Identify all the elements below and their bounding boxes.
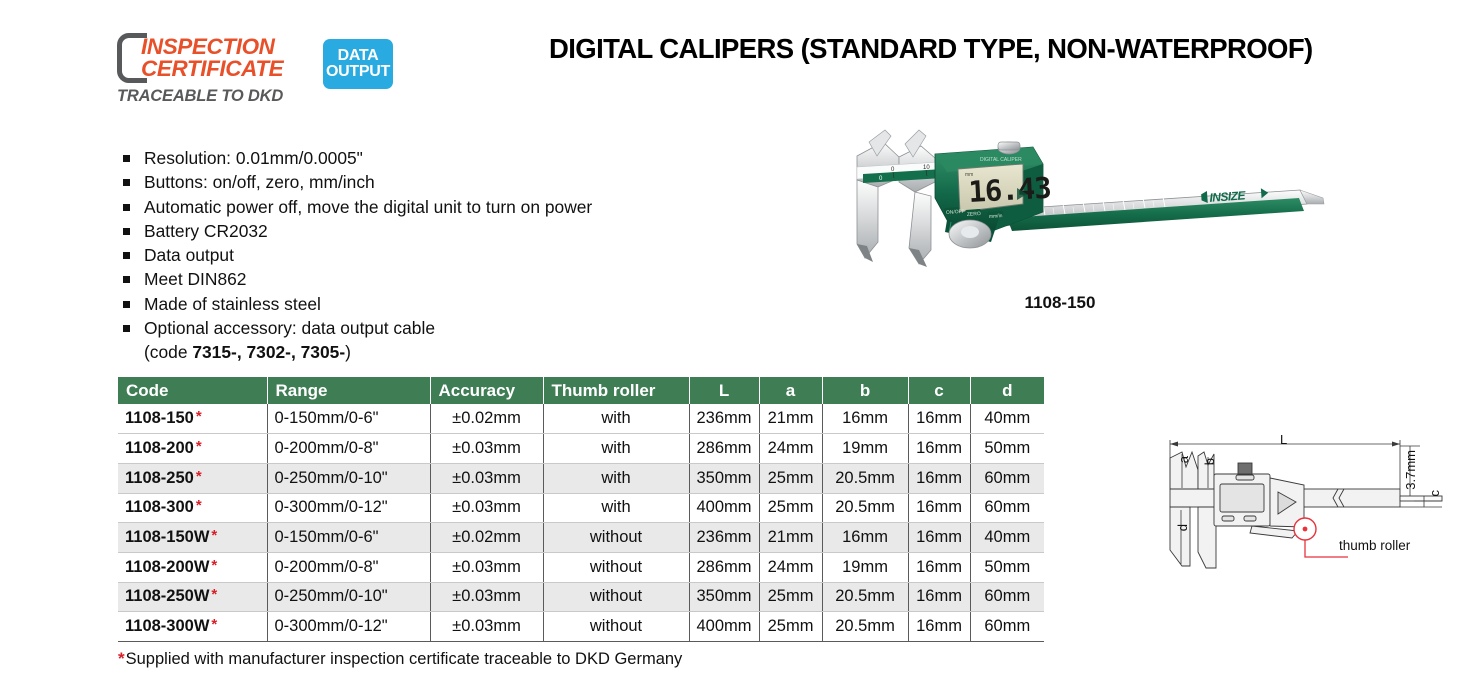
table-footnote: *Supplied with manufacturer inspection c…	[118, 650, 682, 669]
footnote-text: Supplied with manufacturer inspection ce…	[126, 650, 683, 668]
cell-code: 1108-200W*	[118, 552, 267, 582]
cell-b: 20.5mm	[822, 463, 908, 493]
cell-l: 236mm	[689, 523, 759, 553]
asterisk-marker: *	[196, 468, 202, 485]
column-header-b: b	[822, 377, 908, 404]
cell-thumb-roller: without	[543, 582, 689, 612]
asterisk-marker: *	[211, 557, 217, 574]
cell-a: 24mm	[759, 552, 822, 582]
table-header-row: Code Range Accuracy Thumb roller L a b c…	[118, 377, 1044, 404]
cell-a: 25mm	[759, 582, 822, 612]
table-row: 1108-300* 0-300mm/0-12" ±0.03mm with 400…	[118, 493, 1044, 523]
cell-range: 0-300mm/0-12"	[267, 493, 430, 523]
cell-d: 50mm	[970, 434, 1044, 464]
cell-c: 16mm	[908, 434, 970, 464]
cell-d: 60mm	[970, 493, 1044, 523]
column-header-code: Code	[118, 377, 267, 404]
cell-accuracy: ±0.03mm	[430, 434, 543, 464]
cell-l: 286mm	[689, 552, 759, 582]
cell-b: 19mm	[822, 434, 908, 464]
bullet-square-icon	[123, 155, 130, 162]
bullet-square-icon	[123, 252, 130, 259]
feature-sub-codes: 7315-, 7302-, 7305-	[192, 342, 345, 362]
thumb-roller-callout-label: thumb roller	[1339, 538, 1410, 553]
cell-accuracy: ±0.03mm	[430, 493, 543, 523]
asterisk-marker: *	[196, 408, 202, 425]
cell-code: 1108-250*	[118, 463, 267, 493]
table-row: 1108-250W* 0-250mm/0-10" ±0.03mm without…	[118, 582, 1044, 612]
inspection-certificate-logo: INSPECTION CERTIFICATE TRACEABLE TO DKD	[117, 33, 312, 108]
cell-l: 286mm	[689, 434, 759, 464]
cell-c: 16mm	[908, 552, 970, 582]
svg-text:110: 110	[1073, 197, 1083, 203]
cell-range: 0-200mm/0-8"	[267, 552, 430, 582]
cell-c: 16mm	[908, 523, 970, 553]
certificate-traceable-text: TRACEABLE TO DKD	[117, 87, 283, 106]
cell-l: 400mm	[689, 493, 759, 523]
table-row: 1108-250* 0-250mm/0-10" ±0.03mm with 350…	[118, 463, 1044, 493]
asterisk-marker: *	[196, 438, 202, 455]
table-row: 1108-200* 0-200mm/0-8" ±0.03mm with 286m…	[118, 434, 1044, 464]
page-title: DIGITAL CALIPERS (STANDARD TYPE, NON-WAT…	[549, 33, 1454, 65]
bullet-square-icon	[123, 228, 130, 235]
cell-a: 25mm	[759, 612, 822, 642]
cell-c: 16mm	[908, 404, 970, 434]
list-item: Optional accessory: data output cable	[122, 316, 722, 340]
cell-code: 1108-200*	[118, 434, 267, 464]
cell-c: 16mm	[908, 493, 970, 523]
cell-range: 0-300mm/0-12"	[267, 612, 430, 642]
asterisk-marker: *	[118, 649, 125, 668]
cell-code: 1108-300*	[118, 493, 267, 523]
list-item: Battery CR2032	[122, 219, 722, 243]
list-item: Buttons: on/off, zero, mm/inch	[122, 170, 722, 194]
column-header-l: L	[689, 377, 759, 404]
feature-sub-suffix: )	[345, 342, 351, 362]
cell-d: 60mm	[970, 463, 1044, 493]
product-caption: 1108-150	[795, 293, 1325, 313]
data-badge-line-1: DATA	[338, 48, 379, 64]
cell-accuracy: ±0.03mm	[430, 582, 543, 612]
cell-a: 24mm	[759, 434, 822, 464]
asterisk-marker: *	[211, 527, 217, 544]
technical-drawing: L a b d 3.7mm c	[1152, 432, 1457, 597]
cell-accuracy: ±0.03mm	[430, 463, 543, 493]
cell-d: 50mm	[970, 552, 1044, 582]
cell-thumb-roller: with	[543, 463, 689, 493]
svg-text:DIGITAL CALIPER: DIGITAL CALIPER	[980, 157, 1022, 163]
cell-accuracy: ±0.02mm	[430, 523, 543, 553]
cell-a: 25mm	[759, 493, 822, 523]
data-output-badge: DATA OUTPUT	[323, 39, 393, 89]
cell-accuracy: ±0.02mm	[430, 404, 543, 434]
bullet-square-icon	[123, 325, 130, 332]
feature-sub-prefix: (code	[144, 342, 192, 362]
column-header-d: d	[970, 377, 1044, 404]
product-photo: 90 100 110 120 130 140 150 mm INSIZE	[795, 112, 1325, 287]
cell-d: 60mm	[970, 612, 1044, 642]
cell-thumb-roller: with	[543, 434, 689, 464]
column-header-a: a	[759, 377, 822, 404]
data-badge-line-2: OUTPUT	[326, 64, 390, 80]
cell-a: 25mm	[759, 463, 822, 493]
table-row: 1108-150W* 0-150mm/0-6" ±0.02mm without …	[118, 523, 1044, 553]
cell-thumb-roller: without	[543, 612, 689, 642]
cell-b: 16mm	[822, 523, 908, 553]
cell-b: 16mm	[822, 404, 908, 434]
specifications-table: Code Range Accuracy Thumb roller L a b c…	[118, 377, 1044, 642]
svg-text:mm/in: mm/in	[989, 213, 1003, 220]
feature-text: Made of stainless steel	[144, 294, 321, 314]
certificate-line-1: INSPECTION	[141, 36, 283, 58]
feature-text: Buttons: on/off, zero, mm/inch	[144, 172, 375, 192]
svg-text:100: 100	[1053, 199, 1064, 205]
cell-range: 0-150mm/0-6"	[267, 523, 430, 553]
cell-code: 1108-300W*	[118, 612, 267, 642]
svg-text:10: 10	[923, 165, 930, 171]
list-item: Resolution: 0.01mm/0.0005"	[122, 146, 722, 170]
cell-thumb-roller: with	[543, 404, 689, 434]
dimension-label-a: a	[1176, 456, 1191, 463]
cell-d: 40mm	[970, 404, 1044, 434]
svg-text:120: 120	[1093, 196, 1104, 202]
cell-b: 20.5mm	[822, 582, 908, 612]
cell-l: 350mm	[689, 582, 759, 612]
bullet-square-icon	[123, 301, 130, 308]
cell-l: 350mm	[689, 463, 759, 493]
cell-range: 0-250mm/0-10"	[267, 582, 430, 612]
cell-accuracy: ±0.03mm	[430, 552, 543, 582]
cell-range: 0-150mm/0-6"	[267, 404, 430, 434]
cell-thumb-roller: without	[543, 523, 689, 553]
feature-text: Battery CR2032	[144, 221, 268, 241]
asterisk-marker: *	[211, 586, 217, 603]
svg-text:mm: mm	[1176, 191, 1186, 197]
feature-list: Resolution: 0.01mm/0.0005" Buttons: on/o…	[122, 146, 722, 365]
feature-text: Meet DIN862	[144, 269, 246, 289]
column-header-thumb-roller: Thumb roller	[543, 377, 689, 404]
cell-d: 40mm	[970, 523, 1044, 553]
list-item: Meet DIN862	[122, 267, 722, 291]
dimension-label-d: d	[1175, 524, 1190, 531]
lcd-value: 16.43	[968, 171, 1052, 209]
feature-text: Data output	[144, 245, 234, 265]
table-row: 1108-300W* 0-300mm/0-12" ±0.03mm without…	[118, 612, 1044, 642]
cell-accuracy: ±0.03mm	[430, 612, 543, 642]
cell-range: 0-250mm/0-10"	[267, 463, 430, 493]
table-row: 1108-150* 0-150mm/0-6" ±0.02mm with 236m…	[118, 404, 1044, 434]
bullet-square-icon	[123, 276, 130, 283]
feature-text: Resolution: 0.01mm/0.0005"	[144, 148, 363, 168]
cell-code: 1108-150*	[118, 404, 267, 434]
dimension-label-thickness: 3.7mm	[1403, 450, 1418, 490]
dimension-label-b: b	[1202, 458, 1217, 465]
list-item: Made of stainless steel	[122, 292, 722, 316]
svg-text:150: 150	[1153, 192, 1164, 198]
column-header-c: c	[908, 377, 970, 404]
cell-c: 16mm	[908, 582, 970, 612]
cell-b: 19mm	[822, 552, 908, 582]
certificate-wordmark: INSPECTION CERTIFICATE	[141, 36, 283, 80]
cell-c: 16mm	[908, 463, 970, 493]
feature-text: Optional accessory: data output cable	[144, 318, 435, 338]
dimension-label-c: c	[1427, 490, 1442, 497]
cell-a: 21mm	[759, 523, 822, 553]
bullet-square-icon	[123, 204, 130, 211]
svg-text:130: 130	[1113, 195, 1124, 201]
cell-b: 20.5mm	[822, 612, 908, 642]
cell-b: 20.5mm	[822, 493, 908, 523]
list-item: Automatic power off, move the digital un…	[122, 195, 722, 219]
cell-code: 1108-150W*	[118, 523, 267, 553]
feature-text: Automatic power off, move the digital un…	[144, 197, 592, 217]
cell-a: 21mm	[759, 404, 822, 434]
cell-code: 1108-250W*	[118, 582, 267, 612]
cell-l: 400mm	[689, 612, 759, 642]
cell-range: 0-200mm/0-8"	[267, 434, 430, 464]
list-item: Data output	[122, 243, 722, 267]
table-row: 1108-200W* 0-200mm/0-8" ±0.03mm without …	[118, 552, 1044, 582]
svg-text:140: 140	[1133, 193, 1144, 199]
dimension-label-L: L	[1280, 432, 1287, 447]
cell-d: 60mm	[970, 582, 1044, 612]
column-header-range: Range	[267, 377, 430, 404]
asterisk-marker: *	[196, 497, 202, 514]
caliper-illustration: 90 100 110 120 130 140 150 mm INSIZE	[795, 112, 1325, 287]
cell-thumb-roller: without	[543, 552, 689, 582]
cell-l: 236mm	[689, 404, 759, 434]
column-header-accuracy: Accuracy	[430, 377, 543, 404]
cell-thumb-roller: with	[543, 493, 689, 523]
feature-sub-line: (code 7315-, 7302-, 7305-)	[122, 340, 722, 364]
certificate-line-2: CERTIFICATE	[141, 58, 283, 80]
asterisk-marker: *	[211, 616, 217, 633]
svg-text:INSIZE: INSIZE	[1209, 188, 1247, 205]
cell-c: 16mm	[908, 612, 970, 642]
bullet-square-icon	[123, 179, 130, 186]
svg-text:ZERO: ZERO	[967, 211, 981, 218]
